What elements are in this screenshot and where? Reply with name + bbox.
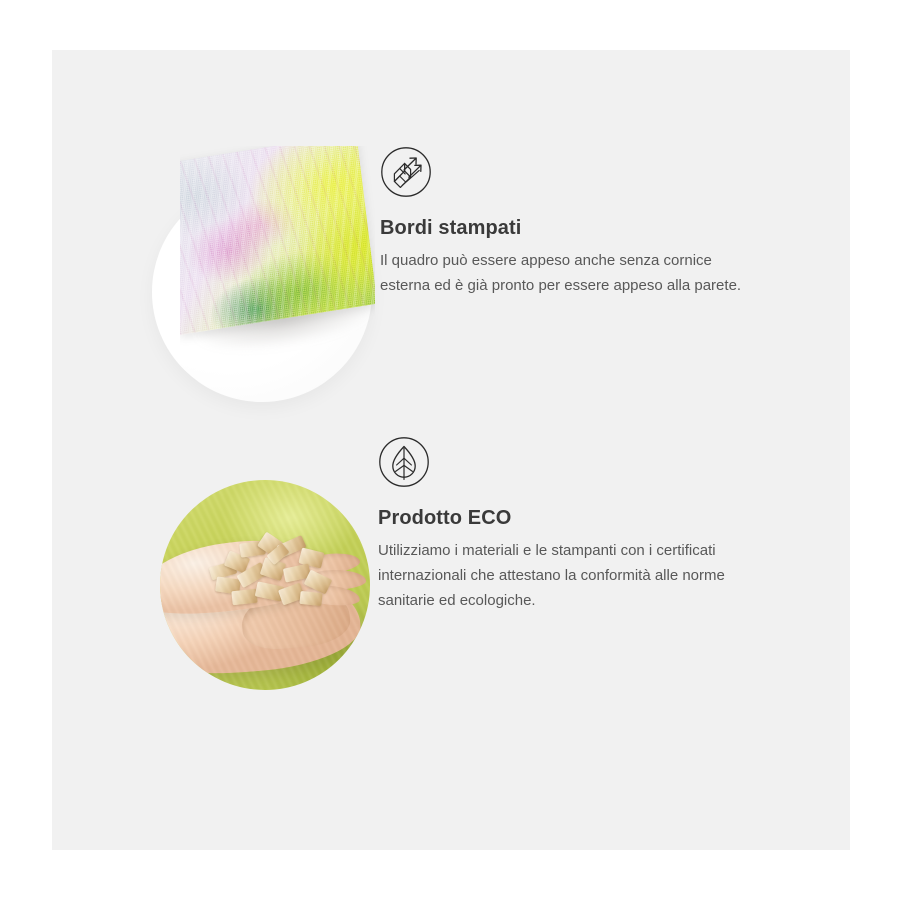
canvas-corner-photo xyxy=(180,146,375,361)
hands-wood-chips-photo xyxy=(160,480,370,690)
feature-printed-edges: Bordi stampati Il quadro può essere appe… xyxy=(100,140,750,410)
feature-eco-product: Prodotto ECO Utilizziamo i materiali e l… xyxy=(108,430,748,690)
product-feature-page: Bordi stampati Il quadro può essere appe… xyxy=(0,0,900,900)
upper-hand xyxy=(160,530,337,621)
feature-title: Prodotto ECO xyxy=(378,506,748,531)
feature-printed-edges-content: Bordi stampati Il quadro può essere appe… xyxy=(380,140,750,298)
feature-eco-product-media xyxy=(108,430,378,690)
fingers xyxy=(298,552,370,612)
feature-description: Il quadro può essere appeso anche senza … xyxy=(380,248,742,298)
lower-hand xyxy=(160,566,364,682)
leaf-icon xyxy=(378,436,430,488)
feature-printed-edges-media xyxy=(100,140,380,410)
canvas-wrapped-edges-icon xyxy=(380,146,432,198)
feature-description: Utilizziamo i materiali e le stampanti c… xyxy=(378,538,740,613)
wood-chips-pile xyxy=(204,534,344,612)
feature-eco-product-content: Prodotto ECO Utilizziamo i materiali e l… xyxy=(378,430,748,613)
feature-title: Bordi stampati xyxy=(380,216,750,241)
canvas-printed-face xyxy=(180,146,375,335)
